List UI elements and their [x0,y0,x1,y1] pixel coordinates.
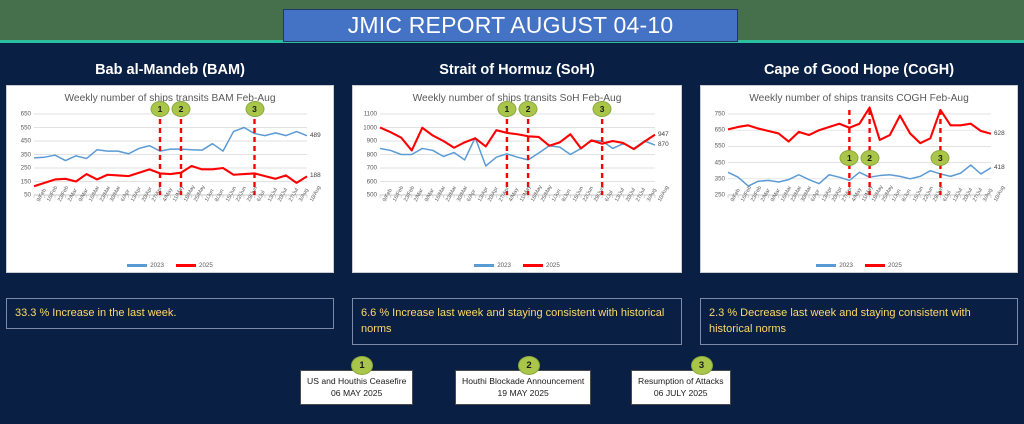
event-name-3: Resumption of Attacks [638,376,724,386]
legend-item-2023[interactable]: 2023 [816,262,853,269]
legend-label-2025: 2025 [546,262,560,269]
commentary-text-cogh: 2.3 % Decrease last week and staying con… [709,305,1009,337]
commentary-box-bam: 33.3 % Increase in the last week. [6,298,334,329]
legend-label-2025: 2025 [199,262,213,269]
y-tick-label: 450 [21,138,31,145]
event-name-1: US and Houthis Ceasefire [307,376,406,386]
chart-event-marker-2: 2 [519,101,538,117]
legend-label-2023: 2023 [839,262,853,269]
y-tick-label: 550 [715,143,725,150]
chart-card-soh[interactable]: Weekly number of ships transits SoH Feb-… [352,85,682,273]
chart-event-marker-2: 2 [860,150,879,166]
y-tick-label: 450 [715,159,725,166]
legend-swatch-2023 [474,264,494,266]
chart-title-soh: Weekly number of ships transits SoH Feb-… [353,86,681,104]
series-end-label: 418 [994,164,1005,171]
chart-legend-cogh: 2023 2025 [701,262,1017,269]
column-bam: Bab al-Mandeb (BAM) Weekly number of shi… [6,55,334,273]
y-tick-label: 900 [367,138,377,145]
event-marker-3: 3 [691,356,713,375]
y-tick-label: 250 [21,165,31,172]
plot-area-cogh[interactable]: 2503504505506507509/Feb16/Feb23/Feb2/Mar… [701,104,1017,232]
y-tick-label: 350 [21,151,31,158]
chart-event-marker-3: 3 [931,150,950,166]
event-date-3: 06 JULY 2025 [638,388,724,398]
column-heading-soh: Strait of Hormuz (SoH) [352,55,682,85]
legend-item-2023[interactable]: 2023 [127,262,164,269]
y-tick-label: 600 [367,178,377,185]
chart-event-marker-2: 2 [172,101,191,117]
plot-area-soh[interactable]: 500600700800900100011009/Feb16/Feb23/Feb… [353,104,681,232]
event-date-1: 06 MAY 2025 [307,388,406,398]
commentary-box-soh: 6.6 % Increase last week and staying con… [352,298,682,345]
x-axis: 9/Feb16/Feb23/Feb2/Mar9/Mar16/Mar23/Mar3… [7,196,333,232]
legend-label-2023: 2023 [150,262,164,269]
commentary-box-cogh: 2.3 % Decrease last week and staying con… [700,298,1018,345]
legend-swatch-2025 [176,264,196,266]
x-axis: 9/Feb16/Feb23/Feb2/Mar9/Mar16/Mar23/Mar3… [701,196,1017,232]
series-end-label: 188 [310,172,321,179]
y-tick-label: 1100 [364,111,377,118]
series-end-label: 628 [994,130,1005,137]
y-tick-label: 150 [21,178,31,185]
commentary-text-bam: 33.3 % Increase in the last week. [15,305,325,321]
series-end-label: 870 [658,141,669,148]
legend-swatch-2025 [865,264,885,266]
series-end-label: 489 [310,132,321,139]
chart-legend-bam: 2023 2025 [7,262,333,269]
y-tick-label: 650 [21,111,31,118]
event-box-3: Resumption of Attacks 06 JULY 2025 [631,370,731,405]
legend-swatch-2025 [523,264,543,266]
column-heading-cogh: Cape of Good Hope (CoGH) [700,55,1018,85]
chart-event-marker-3: 3 [593,101,612,117]
chart-event-marker-1: 1 [497,101,516,117]
event-box-2: Houthi Blockade Announcement 19 MAY 2025 [455,370,591,405]
event-marker-2: 2 [518,356,540,375]
column-cogh: Cape of Good Hope (CoGH) Weekly number o… [700,55,1018,273]
column-heading-bam: Bab al-Mandeb (BAM) [6,55,334,85]
event-legend-row: 1 US and Houthis Ceasefire 06 MAY 2025 2… [0,356,1024,422]
chart-event-marker-1: 1 [151,101,170,117]
legend-item-2025[interactable]: 2025 [865,262,902,269]
legend-item-2023[interactable]: 2023 [474,262,511,269]
event-marker-1: 1 [351,356,373,375]
event-box-1: US and Houthis Ceasefire 06 MAY 2025 [300,370,413,405]
commentary-text-soh: 6.6 % Increase last week and staying con… [361,305,673,337]
x-axis: 9/Feb16/Feb23/Feb2/Mar9/Mar16/Mar23/Mar3… [353,196,681,232]
legend-swatch-2023 [816,264,836,266]
chart-title-bam: Weekly number of ships transits BAM Feb-… [7,86,333,104]
column-soh: Strait of Hormuz (SoH) Weekly number of … [352,55,682,273]
event-name-2: Houthi Blockade Announcement [462,376,584,386]
legend-label-2023: 2023 [497,262,511,269]
chart-card-bam[interactable]: Weekly number of ships transits BAM Feb-… [6,85,334,273]
chart-card-cogh[interactable]: Weekly number of ships transits COGH Feb… [700,85,1018,273]
legend-item-2025[interactable]: 2025 [176,262,213,269]
chart-event-marker-1: 1 [840,150,859,166]
y-tick-label: 750 [715,111,725,118]
event-date-2: 19 MAY 2025 [462,388,584,398]
legend-label-2025: 2025 [888,262,902,269]
page-title: JMIC REPORT AUGUST 04-10 [348,12,674,39]
series-end-label: 947 [658,131,669,138]
y-tick-label: 1000 [363,124,377,131]
y-tick-label: 550 [21,124,31,131]
plot-area-bam[interactable]: 501502503504505506509/Feb16/Feb23/Feb2/M… [7,104,333,232]
chart-event-marker-3: 3 [245,101,264,117]
legend-item-2025[interactable]: 2025 [523,262,560,269]
y-tick-label: 700 [367,165,377,172]
y-tick-label: 350 [715,175,725,182]
y-tick-label: 800 [367,151,377,158]
report-title-box: JMIC REPORT AUGUST 04-10 [283,9,738,42]
legend-swatch-2023 [127,264,147,266]
chart-title-cogh: Weekly number of ships transits COGH Feb… [701,86,1017,104]
y-tick-label: 650 [715,127,725,134]
chart-legend-soh: 2023 2025 [353,262,681,269]
